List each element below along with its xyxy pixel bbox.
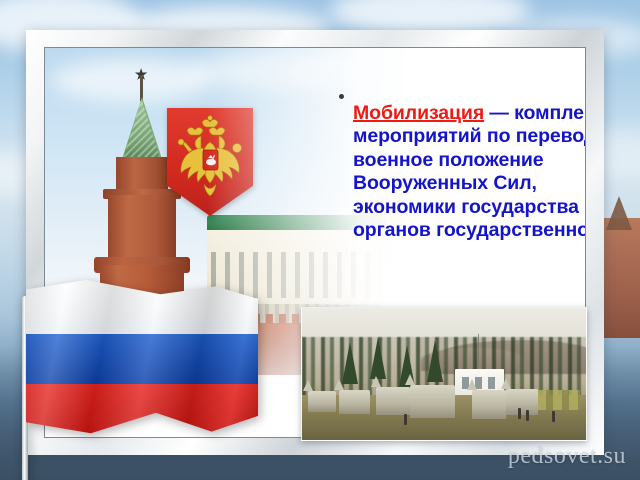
camp-conifer-tree: [427, 340, 443, 382]
term-mobilizaciya: Мобилизация: [353, 102, 484, 124]
presentation-slide: Мобилизация — комплекс мероприятий по пе…: [0, 0, 640, 480]
bullet-list-item: Мобилизация — комплекс мероприятий по пе…: [339, 82, 586, 262]
military-camp-photo: [301, 307, 587, 441]
camp-conifer-tree: [370, 337, 386, 379]
camp-tent: [339, 390, 370, 414]
tower-upper-tier: [116, 157, 168, 191]
camp-tent: [376, 387, 410, 415]
camp-conifer-tree: [342, 342, 358, 384]
camp-tent: [410, 385, 455, 418]
camp-tent: [506, 389, 537, 415]
background-kremlin-tower-right: [606, 196, 632, 230]
flag-cloth: [26, 280, 258, 438]
camp-person: [526, 410, 529, 421]
em-dash: —: [484, 102, 514, 124]
russian-flag: [10, 278, 260, 458]
camp-antenna-mast: [478, 334, 479, 371]
camp-tent: [308, 391, 336, 412]
double-headed-eagle-icon: [167, 108, 253, 216]
tower-middle-tier: [108, 195, 176, 259]
definition-paragraph: Мобилизация — комплекс мероприятий по пе…: [353, 102, 586, 243]
camp-person: [552, 411, 555, 422]
camp-tent: [472, 390, 506, 419]
russian-coat-of-arms: [167, 108, 253, 216]
bullet-point-icon: [339, 94, 344, 99]
flag-wave-shading: [26, 280, 258, 438]
camp-person: [404, 414, 407, 425]
photo-cloud: [185, 52, 365, 90]
camp-person: [518, 408, 521, 419]
slide-text-block: Мобилизация — комплекс мероприятий по пе…: [339, 82, 586, 262]
site-watermark: pedsovet.su: [508, 443, 626, 470]
